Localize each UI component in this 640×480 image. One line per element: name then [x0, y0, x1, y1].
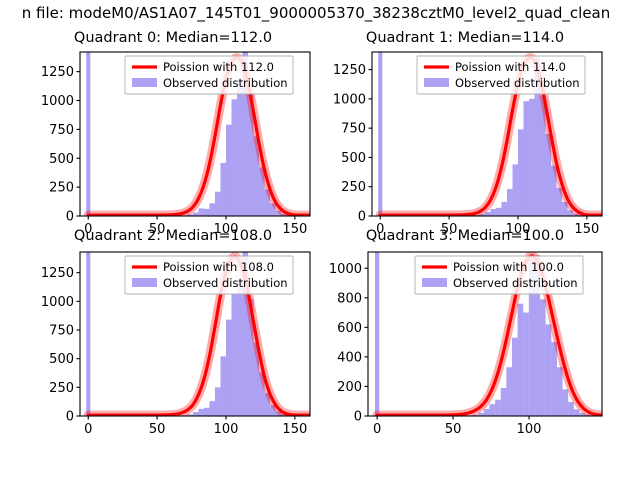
y-tick-label: 500	[49, 352, 74, 367]
y-tick-label: 0	[66, 210, 74, 225]
y-tick-label: 0	[66, 410, 74, 425]
histogram-bar	[209, 401, 215, 416]
x-tick-label: 0	[373, 422, 381, 437]
histogram-bar	[232, 99, 238, 216]
legend-label-observed: Observed distribution	[163, 76, 288, 90]
histogram-bar	[551, 342, 557, 416]
y-tick-label: 250	[49, 381, 74, 396]
plot-area-quadrant-3: 05010002004006008001000Poission with 100…	[320, 228, 610, 443]
y-tick-label: 1000	[41, 94, 74, 109]
histogram-bar	[198, 409, 204, 416]
legend-swatch-observed	[132, 78, 157, 87]
legend-swatch-observed	[422, 278, 447, 287]
x-axis-ticks: 050100	[373, 416, 542, 437]
subplot-title-quadrant-2: Quadrant 2: Median=108.0	[28, 228, 318, 244]
y-axis-ticks: 025050075010001250	[41, 266, 80, 424]
histogram-bar	[215, 192, 221, 216]
histogram-bar	[204, 209, 210, 216]
histogram-bar	[568, 402, 574, 416]
histogram-bar	[226, 125, 232, 216]
y-tick-label: 750	[341, 122, 366, 137]
y-axis-ticks: 025050075010001250	[41, 65, 80, 224]
legend-label-observed: Observed distribution	[455, 76, 580, 90]
histogram-bar	[489, 404, 495, 416]
legend: Poission with 114.0Observed distribution	[417, 56, 585, 94]
y-tick-label: 1250	[41, 266, 74, 281]
legend-swatch-observed	[424, 78, 449, 87]
histogram-bar	[529, 99, 535, 216]
legend: Poission with 108.0Observed distribution	[125, 256, 293, 294]
histogram-bar	[220, 356, 226, 416]
legend-label-poisson: Poission with 100.0	[453, 260, 564, 274]
histogram-bar	[501, 388, 507, 416]
subplot-title-quadrant-1: Quadrant 1: Median=114.0	[320, 30, 610, 46]
histogram-bar	[524, 101, 530, 216]
y-axis-ticks: 025050075010001250	[333, 63, 372, 224]
subplot-title-quadrant-0: Quadrant 0: Median=112.0	[28, 30, 318, 46]
histogram-bar	[512, 164, 518, 216]
plot-area-quadrant-0: 050100150025050075010001250Poission with…	[28, 30, 318, 238]
histogram-bar	[232, 294, 238, 416]
histogram-zero-bin-spike	[375, 252, 379, 416]
histogram-bar	[490, 209, 496, 216]
plot-area-quadrant-2: 050100150025050075010001250Poission with…	[28, 228, 318, 443]
y-tick-label: 500	[341, 151, 366, 166]
legend-label-poisson: Poission with 112.0	[163, 60, 274, 74]
histogram-bar	[512, 338, 518, 416]
histogram-bar	[209, 203, 215, 216]
y-tick-label: 0	[358, 210, 366, 225]
y-tick-label: 200	[337, 380, 362, 395]
y-tick-label: 1250	[41, 65, 74, 80]
legend-swatch-observed	[132, 278, 157, 287]
y-tick-label: 250	[341, 180, 366, 195]
histogram-bar	[540, 299, 546, 416]
y-tick-label: 800	[337, 291, 362, 306]
x-tick-label: 100	[214, 422, 239, 437]
histogram-bar	[237, 79, 243, 216]
y-tick-label: 750	[49, 123, 74, 138]
histogram-bar	[574, 409, 580, 416]
legend: Poission with 112.0Observed distribution	[125, 56, 293, 94]
plot-area-quadrant-1: 050100150025050075010001250Poission with…	[320, 30, 610, 238]
histogram-bar	[215, 387, 221, 416]
y-tick-label: 750	[49, 323, 74, 338]
subplot-quadrant-3: Quadrant 3: Median=100.0 050100020040060…	[320, 228, 610, 443]
y-tick-label: 250	[49, 181, 74, 196]
y-tick-label: 1000	[329, 262, 362, 277]
legend: Poission with 100.0Observed distribution	[415, 256, 583, 294]
histogram-bar	[518, 129, 524, 216]
histogram-bar	[523, 313, 529, 416]
histogram-bar	[204, 408, 210, 416]
figure-suptitle: n file: modeM0/AS1A07_145T01_9000005370_…	[0, 0, 640, 26]
x-axis-ticks: 050100150	[84, 416, 307, 437]
subplot-quadrant-0: Quadrant 0: Median=112.0 050100150025050…	[28, 30, 318, 238]
histogram-bar	[546, 324, 552, 416]
histogram-zero-bin-spike	[378, 52, 382, 216]
histogram-zero-bin-spike	[86, 52, 90, 216]
histogram-bar	[557, 367, 563, 416]
x-tick-label: 50	[149, 422, 166, 437]
histogram-bar	[495, 400, 501, 416]
y-axis-ticks: 02004006008001000	[329, 262, 368, 425]
x-tick-label: 100	[517, 422, 542, 437]
x-tick-label: 150	[282, 422, 307, 437]
y-tick-label: 1000	[333, 92, 366, 107]
y-tick-label: 500	[49, 152, 74, 167]
histogram-bar	[237, 280, 243, 416]
histogram-bar	[518, 304, 524, 416]
legend-label-observed: Observed distribution	[163, 276, 288, 290]
subplot-quadrant-2: Quadrant 2: Median=108.0 050100150025050…	[28, 228, 318, 443]
histogram-bar	[501, 202, 507, 216]
legend-label-poisson: Poission with 108.0	[163, 260, 274, 274]
y-tick-label: 400	[337, 350, 362, 365]
histogram-bar	[506, 367, 512, 416]
subplot-title-quadrant-3: Quadrant 3: Median=100.0	[320, 228, 610, 244]
histogram-bar	[484, 409, 490, 416]
x-tick-label: 50	[445, 422, 462, 437]
histogram-bar	[220, 163, 226, 216]
legend-label-observed: Observed distribution	[453, 276, 578, 290]
y-tick-label: 0	[354, 410, 362, 425]
subplot-quadrant-1: Quadrant 1: Median=114.0 050100150025050…	[320, 30, 610, 238]
histogram-bar	[193, 412, 199, 416]
figure-suptitle-text: n file: modeM0/AS1A07_145T01_9000005370_…	[22, 0, 611, 26]
histogram-bar	[507, 189, 513, 216]
y-tick-label: 600	[337, 321, 362, 336]
x-tick-label: 0	[84, 422, 92, 437]
histogram-zero-bin-spike	[86, 252, 90, 416]
y-tick-label: 1250	[333, 63, 366, 78]
histogram-bar	[198, 208, 204, 216]
y-tick-label: 1000	[41, 295, 74, 310]
histogram-bar	[496, 208, 502, 216]
histogram-bar	[226, 320, 232, 416]
matplotlib-figure: n file: modeM0/AS1A07_145T01_9000005370_…	[0, 0, 640, 480]
legend-label-poisson: Poission with 114.0	[455, 60, 566, 74]
histogram-bar	[563, 389, 569, 416]
